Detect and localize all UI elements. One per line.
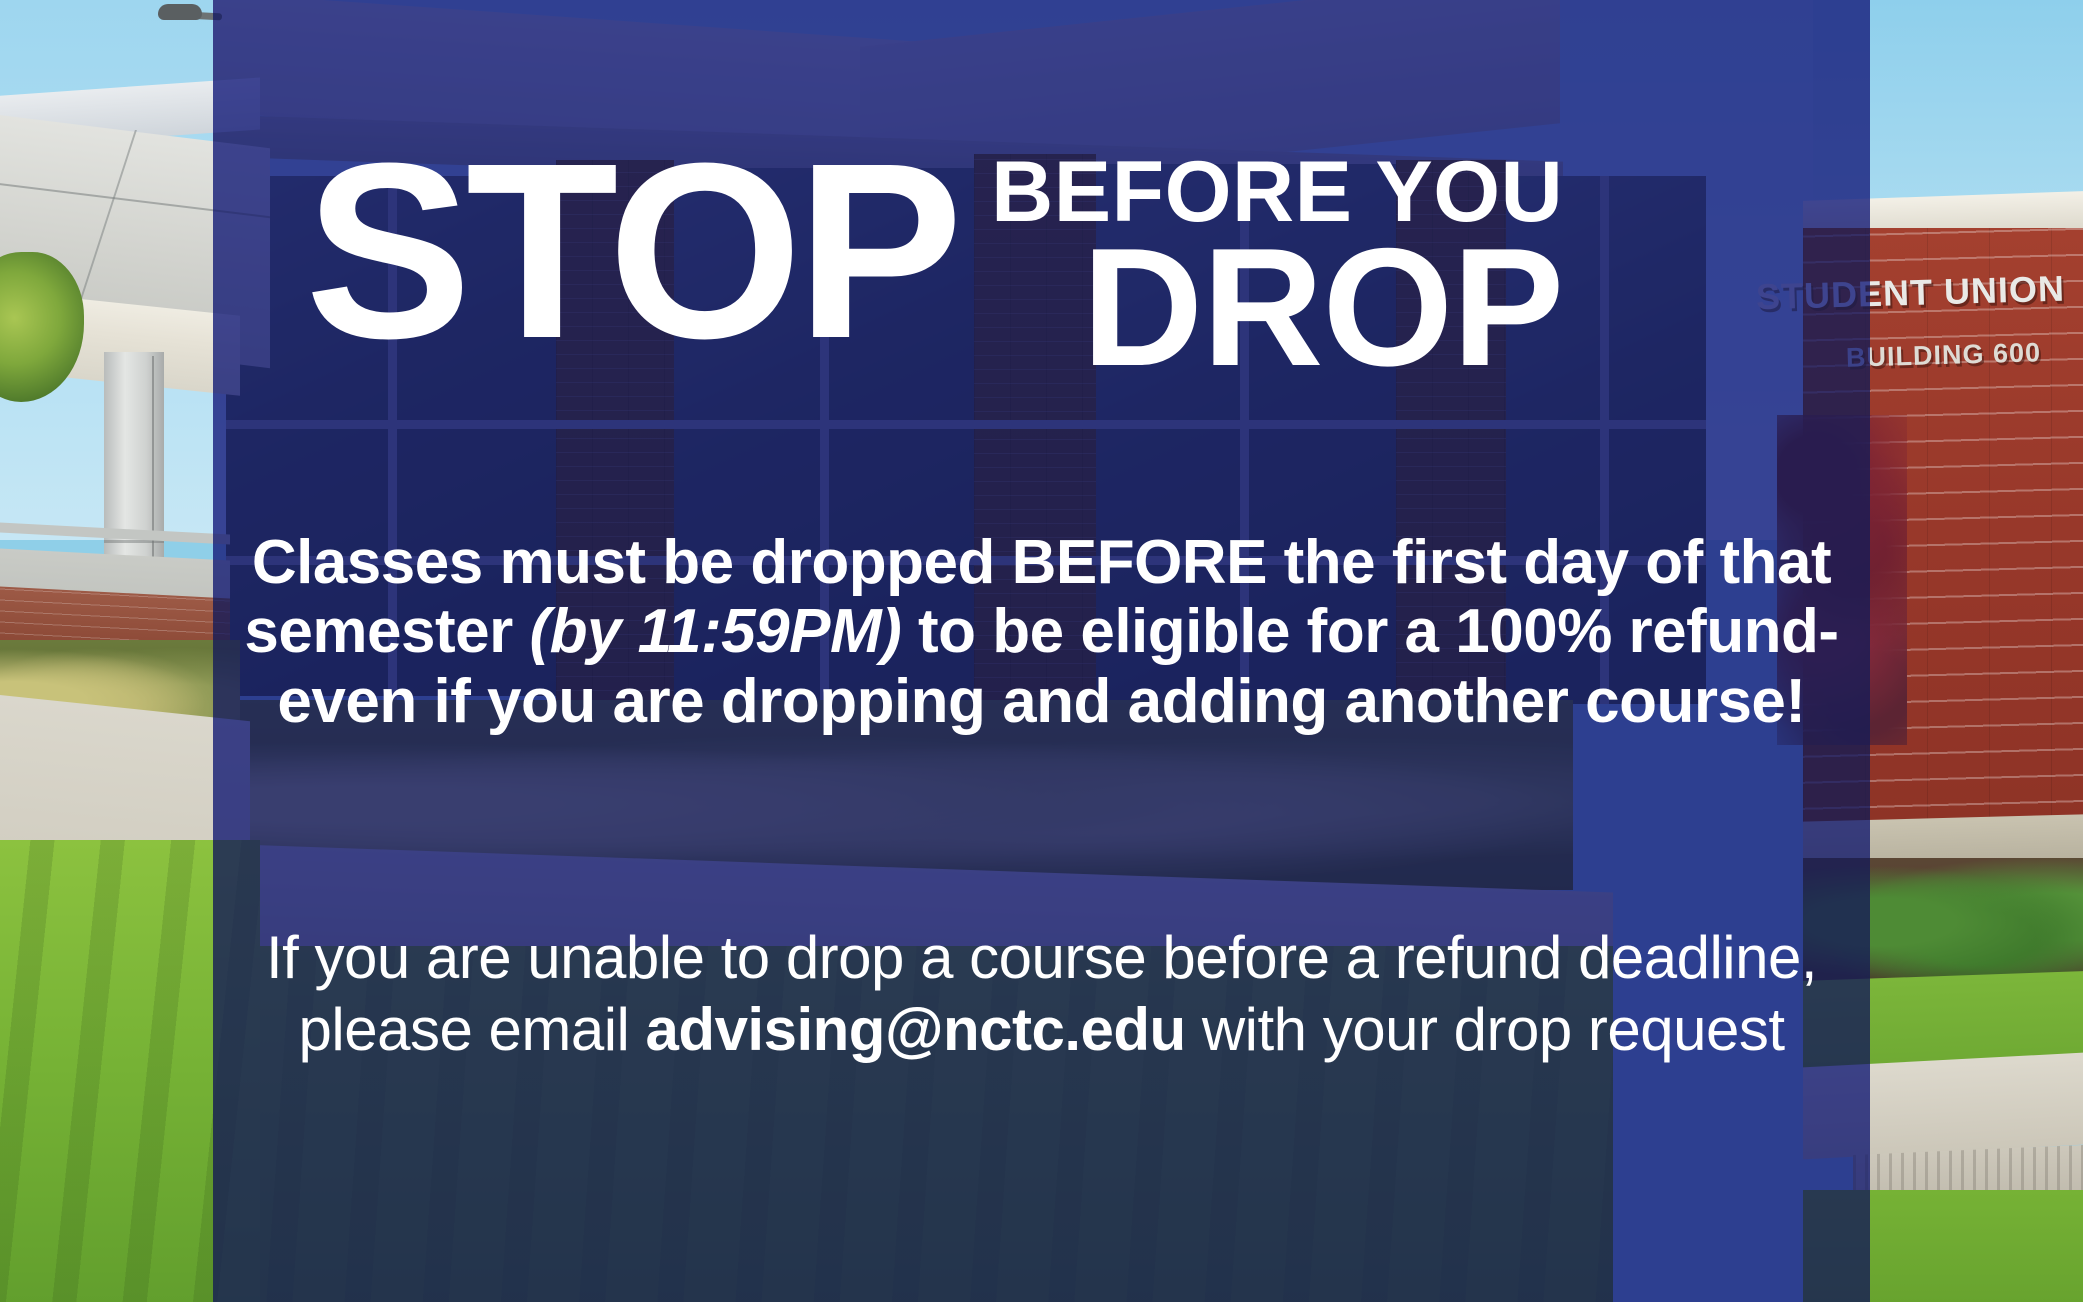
footer-text-part2: with your drop request bbox=[1186, 996, 1785, 1063]
body-paragraph: Classes must be dropped BEFORE the first… bbox=[213, 528, 1870, 736]
advising-email-address[interactable]: advising@nctc.edu bbox=[646, 996, 1186, 1063]
stop-before-you-drop-poster: STUDENT UNION BUILDING 600 STOP BEFORE Y… bbox=[0, 0, 2083, 1302]
headline-drop: DROP bbox=[1082, 230, 1563, 385]
headline-stop: STOP bbox=[305, 148, 957, 353]
poster-content: STOP BEFORE YOU DROP Classes must be dro… bbox=[213, 0, 1870, 1302]
light-fixture bbox=[158, 4, 202, 20]
footer-paragraph: If you are unable to drop a course befor… bbox=[213, 922, 1870, 1066]
building-sign-building-number: BUILDING 600 bbox=[1846, 337, 2042, 373]
headline: STOP BEFORE YOU DROP bbox=[213, 148, 1870, 384]
headline-secondary: BEFORE YOU DROP bbox=[991, 152, 1563, 384]
body-text-emphasis: (by 11:59PM) bbox=[529, 597, 901, 666]
